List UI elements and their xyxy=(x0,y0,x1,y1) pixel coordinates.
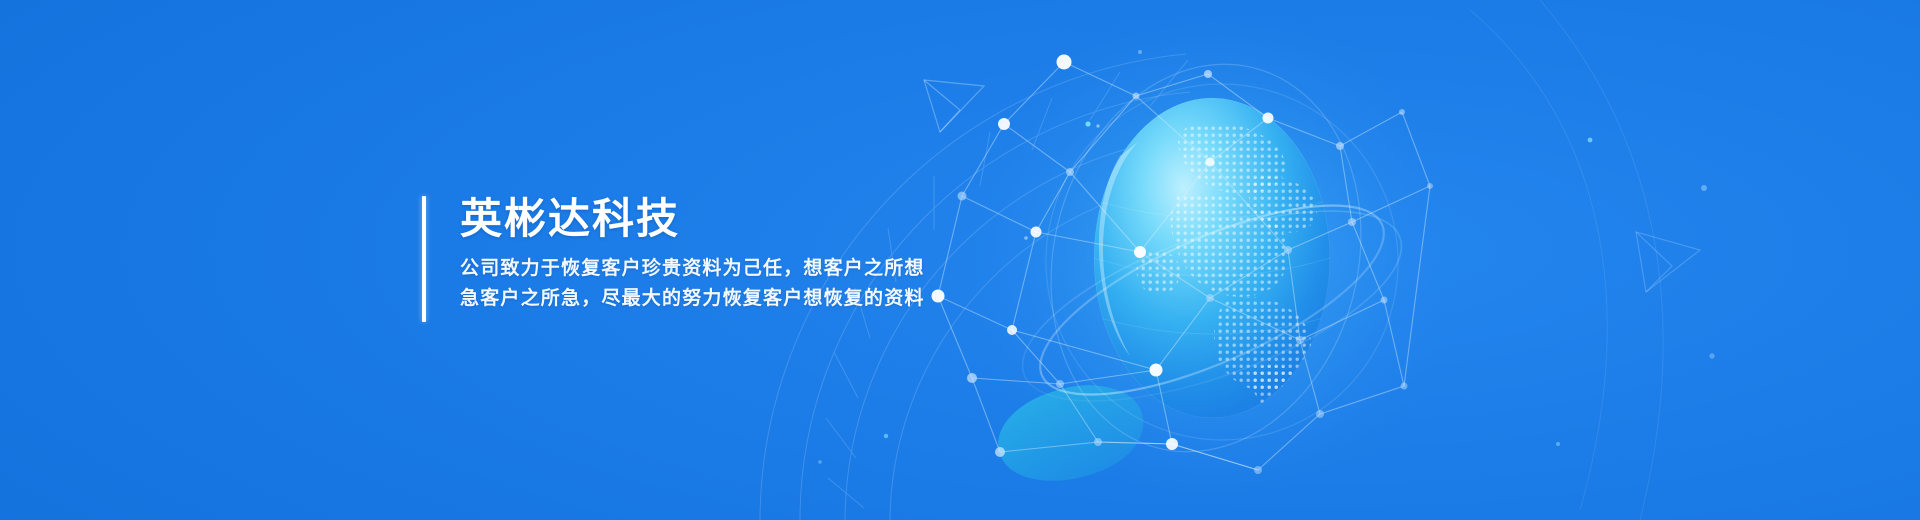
hero-banner: 英彬达科技 公司致力于恢复客户珍贵资料为己任，想客户之所想 急客户之所急，尽最大… xyxy=(0,0,1920,520)
headline-text-column: 英彬达科技 公司致力于恢复客户珍贵资料为己任，想客户之所想 急客户之所急，尽最大… xyxy=(426,196,925,322)
wireframe-triangle xyxy=(924,80,984,132)
subtitle-line-1: 公司致力于恢复客户珍贵资料为己任，想客户之所想 xyxy=(460,254,925,284)
page-title: 英彬达科技 xyxy=(460,196,925,242)
subtitle-line-2: 急客户之所急，尽最大的努力恢复客户想恢复的资料 xyxy=(460,284,925,314)
headline-block: 英彬达科技 公司致力于恢复客户珍贵资料为己任，想客户之所想 急客户之所急，尽最大… xyxy=(422,196,925,322)
wireframe-triangle-right xyxy=(1636,232,1700,292)
right-arcs xyxy=(1470,0,1663,520)
background-graphic xyxy=(0,0,1920,520)
